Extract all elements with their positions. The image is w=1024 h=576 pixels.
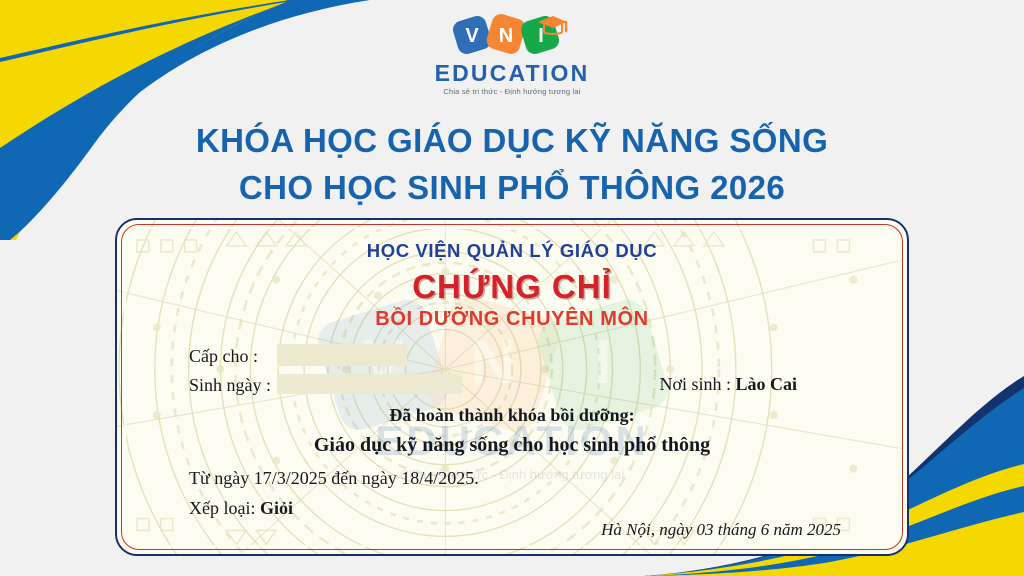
- grade-label: Xếp loại:: [189, 498, 255, 518]
- course-name: Giáo dục kỹ năng sống cho học sinh phổ t…: [117, 434, 907, 457]
- page-title-line-2: CHO HỌC SINH PHỔ THÔNG 2026: [0, 165, 1024, 212]
- place-and-date: Hà Nội, ngày 03 tháng 6 năm 2025: [601, 520, 841, 540]
- recipient-value-redacted: [277, 344, 407, 366]
- brand-logo: V N I EDUCATION Chia sẻ tri thức - Định …: [0, 10, 1024, 96]
- certificate-organization: HỌC VIỆN QUẢN LÝ GIÁO DỤC: [117, 240, 907, 262]
- page-title: KHÓA HỌC GIÁO DỤC KỸ NĂNG SỐNG CHO HỌC S…: [0, 118, 1024, 212]
- certificate-heading: CHỨNG CHỈ: [117, 268, 907, 306]
- birthplace-value: Lào Cai: [735, 374, 797, 394]
- svg-text:N: N: [499, 25, 513, 47]
- logo-letter-tile-v: V: [453, 14, 493, 56]
- grade-field: Xếp loại: Giỏi: [189, 498, 293, 519]
- birthdate-value-redacted: [277, 374, 462, 394]
- birthplace-field: Nơi sinh : Lào Cai: [659, 374, 797, 395]
- recipient-label: Cấp cho :: [189, 346, 258, 367]
- svg-text:V: V: [465, 25, 479, 47]
- page-title-line-1: KHÓA HỌC GIÁO DỤC KỸ NĂNG SỐNG: [0, 118, 1024, 165]
- course-period: Từ ngày 17/3/2025 đến ngày 18/4/2025.: [189, 468, 479, 489]
- birthdate-label: Sinh ngày :: [189, 375, 271, 396]
- vni-logo-mark: V N I: [453, 10, 571, 58]
- svg-text:I: I: [538, 25, 544, 47]
- certificate-image: V N I EDUCATION Chia sẻ tri thức - Định …: [115, 218, 909, 556]
- logo-tagline: Chia sẻ tri thức - Định hướng tương lai: [443, 88, 580, 96]
- birthplace-label: Nơi sinh :: [659, 374, 731, 394]
- completion-line: Đã hoàn thành khóa bồi dưỡng:: [117, 405, 907, 426]
- logo-letter-tile-n: N: [484, 12, 527, 56]
- certificate-subheading: BỒI DƯỠNG CHUYÊN MÔN: [117, 308, 907, 331]
- grade-value: Giỏi: [260, 498, 293, 518]
- logo-wordmark: EDUCATION: [435, 62, 590, 85]
